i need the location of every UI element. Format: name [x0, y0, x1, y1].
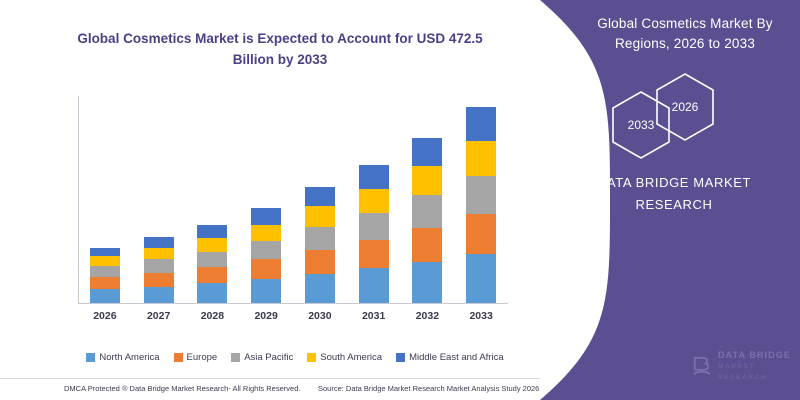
bar-segment[interactable] [197, 267, 227, 283]
dbmr-logo: DATA BRIDGE MARKET RESEARCH [692, 350, 800, 383]
bar-segment[interactable] [90, 266, 120, 277]
bar-segment[interactable] [144, 273, 174, 287]
x-tick-label: 2032 [405, 310, 449, 322]
bar-segment[interactable] [466, 254, 496, 303]
legend-label: Middle East and Africa [409, 352, 504, 363]
bar-group[interactable] [412, 138, 442, 303]
bar-segment[interactable] [305, 250, 335, 274]
panel-title: Global Cosmetics Market By Regions, 2026… [580, 14, 790, 54]
bar-segment[interactable] [144, 248, 174, 260]
legend-item[interactable]: South America [307, 352, 382, 363]
x-tick-label: 2027 [137, 310, 181, 322]
bar-group[interactable] [251, 208, 281, 303]
bar-segment[interactable] [359, 165, 389, 189]
bar-group[interactable] [197, 225, 227, 303]
dbmr-logo-subtitle: MARKET RESEARCH [718, 361, 800, 383]
footer-source: Source: Data Bridge Market Research Mark… [318, 384, 539, 393]
panel-title-line: Global Cosmetics Market By Regions, 2026… [580, 14, 790, 54]
right-info-panel: Global Cosmetics Market By Regions, 2026… [540, 0, 800, 400]
chart-legend: North AmericaEuropeAsia PacificSouth Ame… [60, 352, 530, 363]
bar-segment[interactable] [251, 241, 281, 260]
legend-swatch [396, 353, 405, 362]
legend-label: Europe [187, 352, 218, 363]
bar-segment[interactable] [359, 189, 389, 213]
bar-segment[interactable] [90, 289, 120, 303]
legend-swatch [86, 353, 95, 362]
bar-segment[interactable] [197, 283, 227, 303]
bar-group[interactable] [359, 165, 389, 303]
x-tick-label: 2028 [190, 310, 234, 322]
bar-segment[interactable] [359, 213, 389, 240]
bar-segment[interactable] [144, 237, 174, 248]
hexagon-2026: 2026 [654, 72, 716, 142]
bar-segment[interactable] [466, 176, 496, 214]
bar-segment[interactable] [197, 252, 227, 267]
x-axis-tick-labels: 20262027202820292030203120322033 [78, 310, 508, 326]
chart-title: Global Cosmetics Market is Expected to A… [70, 28, 490, 70]
legend-swatch [307, 353, 316, 362]
bar-segment[interactable] [144, 287, 174, 303]
bar-segment[interactable] [251, 279, 281, 303]
stacked-bar-plot [78, 96, 508, 304]
brand-line-1: DATA BRIDGE MARKET [564, 172, 784, 194]
bar-segment[interactable] [412, 262, 442, 303]
dbmr-logo-text: DATA BRIDGE MARKET RESEARCH [718, 350, 800, 383]
bar-segment[interactable] [359, 240, 389, 268]
legend-item[interactable]: North America [86, 352, 159, 363]
x-tick-label: 2031 [352, 310, 396, 322]
x-tick-label: 2029 [244, 310, 288, 322]
bar-segment[interactable] [412, 166, 442, 195]
bar-segment[interactable] [90, 256, 120, 266]
bar-segment[interactable] [305, 187, 335, 207]
bar-segment[interactable] [305, 274, 335, 303]
bar-segment[interactable] [412, 138, 442, 166]
bar-group[interactable] [90, 248, 120, 303]
footer-bar: DMCA Protected ® Data Bridge Market Rese… [0, 378, 560, 400]
hexagon-2026-label: 2026 [654, 100, 716, 114]
bar-segment[interactable] [197, 238, 227, 252]
legend-label: North America [99, 352, 159, 363]
x-tick-label: 2026 [83, 310, 127, 322]
bar-segment[interactable] [251, 259, 281, 279]
bar-segment[interactable] [197, 225, 227, 238]
legend-item[interactable]: Asia Pacific [231, 352, 293, 363]
infographic-canvas: Global Cosmetics Market is Expected to A… [0, 0, 800, 400]
x-tick-label: 2033 [459, 310, 503, 322]
brand-line-2: RESEARCH [564, 194, 784, 216]
bar-segment[interactable] [251, 225, 281, 241]
legend-label: Asia Pacific [244, 352, 293, 363]
bar-segment[interactable] [305, 206, 335, 227]
legend-label: South America [320, 352, 382, 363]
bar-segment[interactable] [251, 208, 281, 224]
bar-segment[interactable] [90, 248, 120, 257]
hexagon-badges: 2033 2026 [592, 72, 772, 152]
bar-segment[interactable] [305, 227, 335, 250]
bar-segment[interactable] [359, 268, 389, 303]
legend-item[interactable]: Europe [174, 352, 218, 363]
bar-segment[interactable] [466, 214, 496, 254]
bar-segment[interactable] [144, 259, 174, 272]
bar-group[interactable] [466, 107, 496, 303]
bar-segment[interactable] [412, 195, 442, 228]
x-axis [78, 303, 508, 304]
bridge-logo-icon [692, 355, 712, 379]
legend-swatch [174, 353, 183, 362]
brand-name: DATA BRIDGE MARKET RESEARCH [564, 172, 784, 216]
bar-group[interactable] [305, 187, 335, 303]
bar-segment[interactable] [412, 228, 442, 262]
bar-segment[interactable] [466, 141, 496, 176]
legend-item[interactable]: Middle East and Africa [396, 352, 504, 363]
legend-swatch [231, 353, 240, 362]
chart-area: Global Cosmetics Market is Expected to A… [0, 0, 560, 400]
dbmr-logo-title: DATA BRIDGE [718, 350, 791, 360]
bar-segment[interactable] [466, 107, 496, 141]
y-axis [78, 96, 79, 304]
x-tick-label: 2030 [298, 310, 342, 322]
bar-group[interactable] [144, 237, 174, 303]
footer-copyright: DMCA Protected ® Data Bridge Market Rese… [64, 384, 300, 393]
bar-segment[interactable] [90, 277, 120, 289]
